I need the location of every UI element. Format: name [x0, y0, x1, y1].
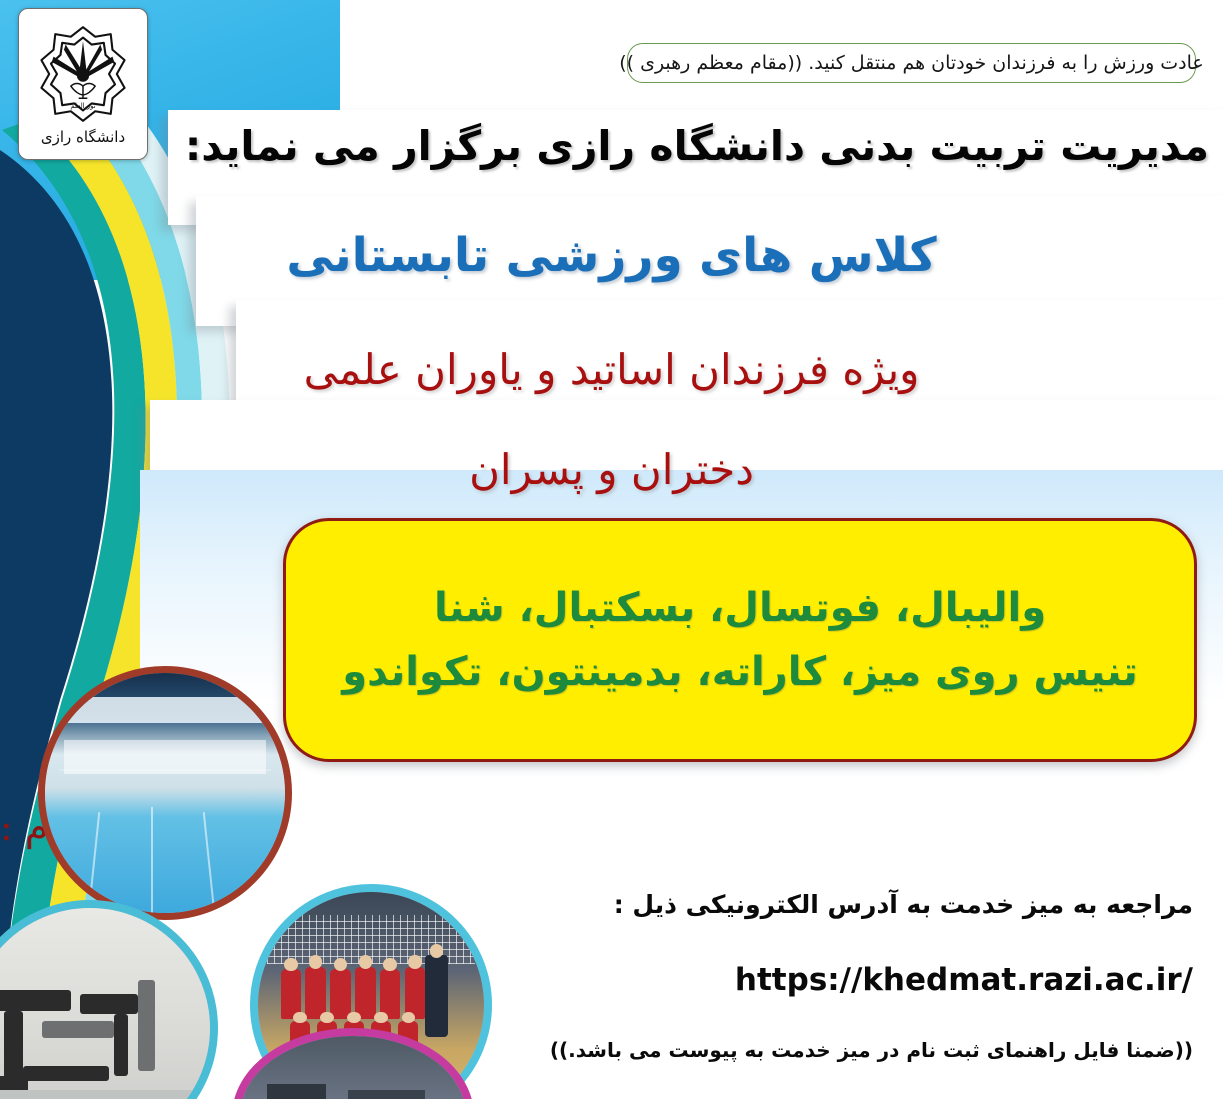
audience-line-2: دختران و پسران: [0, 445, 1223, 494]
leader-quote-box: عادت ورزش را به فرزندان خودتان هم منتقل …: [627, 43, 1196, 83]
photo-sports-hall: [232, 1028, 474, 1099]
organizer-headline: مدیریت تربیت بدنی دانشگاه رازی برگزار می…: [0, 122, 1209, 170]
registration-note: ((ضمنا فایل راهنمای ثبت نام در میز خدمت …: [550, 1038, 1193, 1062]
sports-list-line-2: تنیس روی میز، کاراته، بدمینتون، تکواندو: [342, 649, 1137, 695]
photo-gym-equipment: [0, 900, 218, 1099]
university-logo: نور العلم دانشگاه رازی: [18, 8, 148, 160]
poster-canvas: نور العلم دانشگاه رازی عادت ورزش را به ف…: [0, 0, 1223, 1099]
logo-institution-name: دانشگاه رازی: [41, 128, 125, 146]
audience-line-1: ویژه فرزندان اساتید و یاوران علمی: [0, 345, 1223, 394]
leader-quote-text: عادت ورزش را به فرزندان خودتان هم منتقل …: [619, 52, 1204, 74]
razi-university-emblem-icon: نور العلم: [31, 22, 135, 126]
sports-list-box: والیبال، فوتسال، بسکتبال، شنا تنیس روی م…: [283, 518, 1197, 762]
registration-url[interactable]: https://khedmat.razi.ac.ir/: [735, 962, 1193, 998]
event-title: کلاس های ورزشی تابستانی: [0, 228, 1223, 283]
registration-instruction: مراجعه به میز خدمت به آدرس الکترونیکی ذی…: [614, 890, 1193, 919]
sports-list-line-1: والیبال، فوتسال، بسکتبال، شنا: [434, 585, 1046, 631]
svg-text:نور العلم: نور العلم: [70, 102, 95, 110]
photo-swimming-pool: [38, 666, 292, 920]
